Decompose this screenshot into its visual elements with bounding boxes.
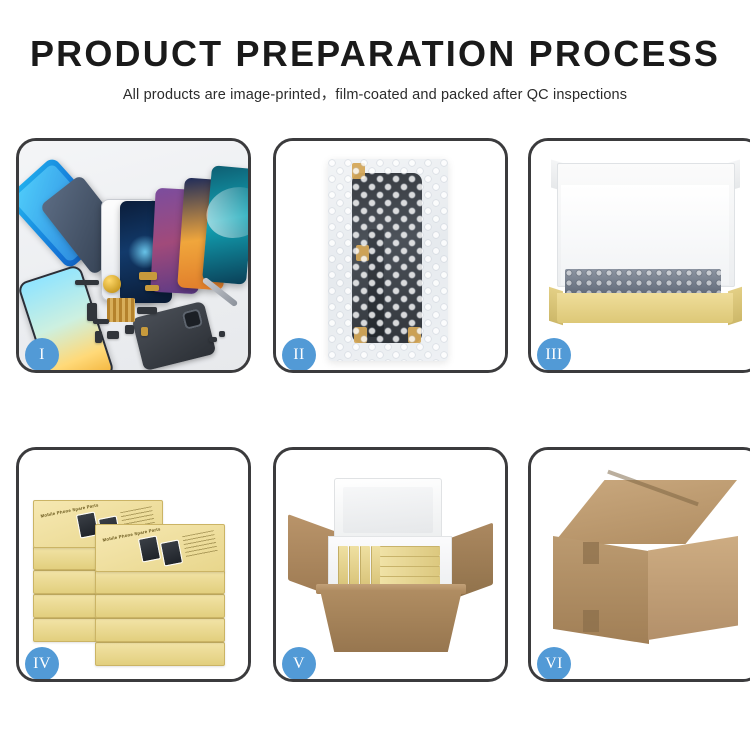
process-step-grid: I II — [0, 138, 750, 690]
bubble-texture-icon — [328, 159, 448, 361]
product-preparation-infographic: PRODUCT PREPARATION PROCESS All products… — [0, 0, 750, 750]
retail-box-top-icon: Mobile Phone Spare Parts — [95, 524, 225, 572]
carton-tape-icon — [583, 610, 599, 632]
carton-left-face-icon — [553, 536, 649, 644]
part-icon — [209, 337, 217, 342]
part-icon — [219, 331, 225, 337]
part-icon — [95, 331, 102, 343]
sealed-shipping-carton-image — [531, 450, 750, 679]
carton-with-foam-insert-image — [276, 450, 505, 679]
step-panel: II — [273, 138, 508, 373]
step-badge-6: VI — [537, 647, 571, 681]
stacked-retail-boxes-image: Mobile Phone Spare Parts Mobile Phone Sp… — [19, 450, 248, 679]
open-yellow-box-image — [531, 141, 750, 370]
packed-box-icon — [380, 546, 440, 556]
bubble-bag-icon — [328, 159, 448, 361]
speaker-module-icon — [103, 275, 121, 293]
process-step-3: III — [528, 138, 750, 373]
step-panel: Mobile Phone Spare Parts Mobile Phone Sp… — [16, 447, 251, 682]
carton-tape-icon — [583, 542, 599, 564]
packed-box-icon — [349, 546, 359, 586]
process-step-5: V — [273, 447, 508, 682]
packed-box-icon — [360, 546, 370, 586]
retail-box-icon — [95, 570, 225, 594]
carton-front-icon — [320, 590, 462, 652]
carton-right-face-icon — [648, 536, 738, 640]
packed-boxes-icon — [338, 546, 440, 586]
part-icon — [125, 325, 134, 334]
retail-box-icon — [95, 618, 225, 642]
box-spec-lines-icon — [182, 530, 218, 558]
step-panel: I — [16, 138, 251, 373]
box-front-icon — [557, 293, 733, 323]
step-badge-4: IV — [25, 647, 59, 681]
carton-top-icon — [553, 480, 737, 544]
process-step-4: Mobile Phone Spare Parts Mobile Phone Sp… — [16, 447, 251, 682]
components-and-screens-image — [19, 141, 248, 370]
retail-box-icon — [95, 642, 225, 666]
header: PRODUCT PREPARATION PROCESS All products… — [0, 34, 750, 104]
process-step-1: I — [16, 138, 251, 373]
step-panel: III — [528, 138, 750, 373]
step-badge-1: I — [25, 338, 59, 372]
step-badge-5: V — [282, 647, 316, 681]
retail-box-icon — [95, 594, 225, 618]
box-screen-print-icon — [138, 535, 161, 562]
part-icon — [137, 307, 157, 314]
packed-box-icon — [338, 546, 348, 586]
step-badge-2: II — [282, 338, 316, 372]
part-icon — [145, 285, 159, 291]
part-icon — [93, 319, 109, 324]
part-icon — [141, 327, 148, 336]
process-step-2: II — [273, 138, 508, 373]
foam-lid-icon — [334, 478, 442, 542]
step-badge-3: III — [537, 338, 571, 372]
bubble-wrapped-screen-image — [276, 141, 505, 370]
page-title: PRODUCT PREPARATION PROCESS — [0, 34, 750, 74]
step-panel: VI — [528, 447, 750, 682]
part-icon — [75, 280, 99, 285]
box-screen-print-icon — [160, 539, 183, 566]
process-step-6: VI — [528, 447, 750, 682]
part-icon — [107, 331, 119, 339]
step-panel: V — [273, 447, 508, 682]
packed-box-icon — [380, 566, 440, 576]
page-subtitle: All products are image-printed，film-coat… — [0, 83, 750, 104]
packed-box-icon — [380, 556, 440, 566]
box-stack-icon: Mobile Phone Spare Parts Mobile Phone Sp… — [33, 466, 239, 664]
part-icon — [139, 272, 157, 280]
connector-grid-icon — [107, 298, 135, 322]
